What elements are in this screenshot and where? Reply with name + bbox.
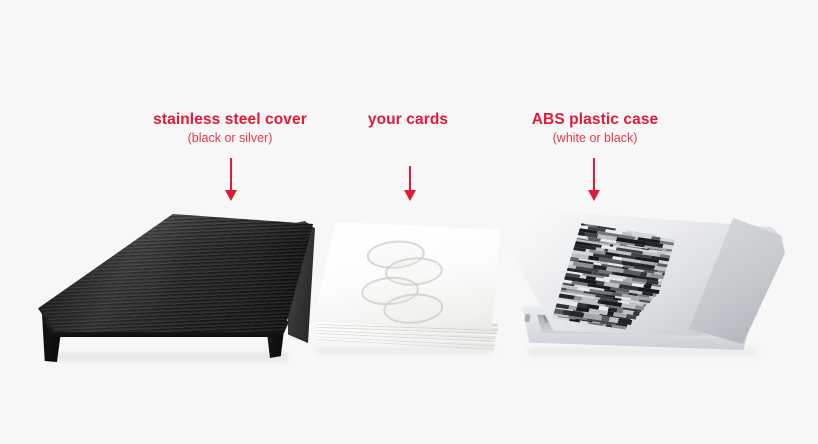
annotation-stainless-steel-cover: stainless steel cover (black or silver) [110,112,350,145]
arrow-head-icon [404,190,416,201]
product-abs-plastic-case [503,208,783,363]
cover-reflection [48,354,288,363]
annotation-title: your cards [333,112,483,128]
annotation-abs-plastic-case: ABS plastic case (white or black) [495,112,695,145]
annotation-subtitle: (black or silver) [110,132,350,145]
arrow-shaft [230,158,232,192]
arrow-to-cover [223,158,239,206]
cover-gloss-sheen [38,214,313,332]
arrow-to-cards [402,166,418,208]
product-diagram-scene: stainless steel cover (black or silver) … [0,0,818,444]
product-stainless-steel-cover [38,214,313,362]
arrow-head-icon [225,190,237,201]
product-card-stack [313,222,513,362]
arrow-head-icon [588,190,600,201]
arrow-to-case [586,158,602,206]
annotation-your-cards: your cards [333,112,483,132]
annotation-title: stainless steel cover [110,112,350,128]
annotation-subtitle: (white or black) [495,132,695,145]
arrow-shaft [409,166,411,192]
arrow-shaft [593,158,595,192]
case-reflection [529,348,755,358]
cards-ground-shadow [317,348,493,355]
card-ellipse-logo [359,237,456,327]
card-top-face [313,222,501,330]
annotation-title: ABS plastic case [495,112,695,128]
